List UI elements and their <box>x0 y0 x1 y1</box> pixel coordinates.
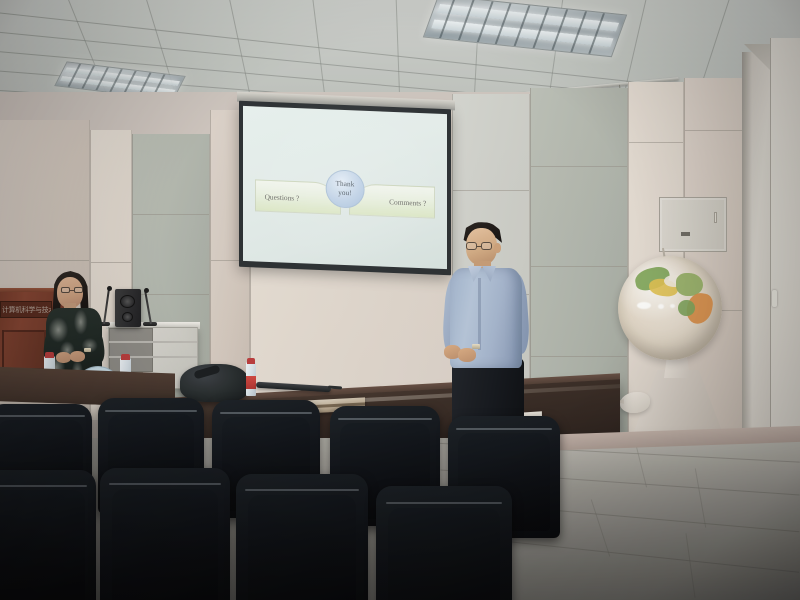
slide-label-questions: Questions ? <box>265 192 300 202</box>
shirt-placket <box>478 278 481 350</box>
globe[interactable] <box>618 256 722 360</box>
projection-screen: Questions ? Comments ? Thank you! <box>239 101 451 276</box>
hand <box>56 352 71 363</box>
wall-box-latch[interactable] <box>714 212 717 223</box>
conference-room-photo: Questions ? Comments ? Thank you! <box>0 0 800 600</box>
hand <box>70 351 85 362</box>
glasses-icon <box>61 287 70 293</box>
chair-back <box>376 486 512 600</box>
podium-sign-text: 计算机科学与技术学院 <box>1 305 52 315</box>
wristwatch <box>84 348 91 352</box>
slide-label-comments: Comments ? <box>389 197 426 207</box>
hand <box>458 348 476 362</box>
globe-landmass <box>678 300 695 317</box>
chair-back <box>100 468 230 600</box>
ear <box>494 243 501 253</box>
glasses-icon <box>74 287 83 293</box>
glasses-icon <box>466 242 477 250</box>
chair-back <box>236 474 368 600</box>
microphone-head-icon <box>144 288 149 293</box>
speaker <box>115 289 141 327</box>
door-handle-icon[interactable] <box>772 290 777 307</box>
glasses-icon <box>481 242 492 250</box>
bottle-label <box>246 376 256 389</box>
microphone-head-icon <box>107 286 112 291</box>
chair[interactable] <box>100 468 230 600</box>
bottle-cap <box>247 358 255 364</box>
chair[interactable] <box>236 474 368 600</box>
glasses-bridge <box>70 290 74 291</box>
wall-control-box[interactable] <box>659 197 727 252</box>
bottle-cap <box>45 352 54 358</box>
chair[interactable] <box>0 470 96 600</box>
chair[interactable] <box>376 486 512 600</box>
chair-back <box>0 470 96 600</box>
screen-surface: Questions ? Comments ? Thank you! <box>243 106 447 269</box>
ceiling-light-panel <box>423 0 627 57</box>
podium-sign: 计算机科学与技术学院 <box>0 301 52 318</box>
bottle-cap <box>121 354 130 360</box>
glasses-bridge <box>477 246 481 247</box>
wristwatch <box>472 344 480 349</box>
slide-thankyou-circle: Thank you! <box>326 169 365 209</box>
presentation-slide: Questions ? Comments ? Thank you! <box>243 106 447 269</box>
podium-lower-panel <box>2 330 46 370</box>
slide-thankyou-line2: you! <box>338 189 352 198</box>
wall-box-slot <box>681 232 690 236</box>
av-cabinet-shelf <box>109 328 153 372</box>
